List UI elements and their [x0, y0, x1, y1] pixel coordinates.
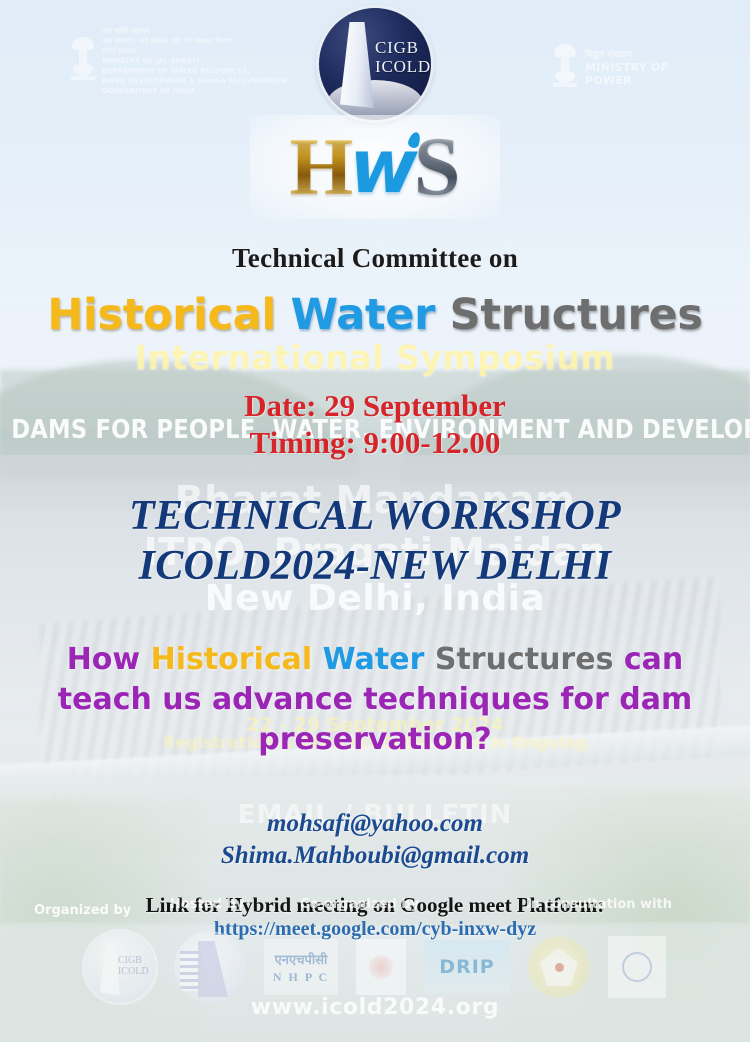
title-water: Water — [291, 290, 435, 340]
footer-hosted-by: Hosted by — [170, 897, 244, 912]
jal-shakti-line-6: RIVER DEVELOPMENT & GANGA REJUVENATION — [102, 77, 287, 85]
workshop-line-1: TECHNICAL WORKSHOP — [0, 491, 750, 541]
poster-root: International Symposium DAMS FOR PEOPLE,… — [0, 0, 750, 1042]
schedule-date: Date: 29 September — [0, 387, 750, 424]
ministry-of-power-text: विद्युत मंत्रालय MINISTRY OF POWER — [585, 50, 669, 87]
ministry-of-power-emblem: विद्युत मंत्रालय MINISTRY OF POWER — [552, 38, 692, 98]
title-structures: Structures — [450, 290, 703, 340]
footer-co-organized: Co-organized by — [300, 897, 419, 912]
ashoka-emblem-icon — [70, 35, 96, 87]
jal-shakti-line-2: जल संसाधन, नदी विकास और गंगा संरक्षण विभ… — [102, 37, 287, 45]
nhpc-logo-icon: एनएचपीसी N H P C — [264, 939, 338, 995]
footer-logo-strip: CIGB ICOLD एनएचपीसी N H P C DRIP — [0, 930, 750, 1004]
footer-organized-by: Organized by — [34, 903, 131, 918]
white-square-logo-icon — [356, 939, 406, 995]
contact-email-1[interactable]: mohsafi@yahoo.com — [0, 808, 750, 840]
mop-line-2: POWER — [585, 74, 669, 87]
contact-emails: mohsafi@yahoo.com Shima.Mahboubi@gmail.c… — [0, 808, 750, 872]
committee-label: Technical Committee on — [0, 243, 750, 274]
nhpc-abbr: N H P C — [273, 970, 329, 985]
icold-logo-line-1: CIGB — [375, 38, 431, 57]
watermark-symposium: International Symposium — [0, 338, 750, 377]
workshop-question: How Historical Water Structures can teac… — [0, 640, 750, 760]
nhpc-hindi: एनएचपीसी — [275, 950, 328, 968]
icold-footer-logo-text: CIGB ICOLD — [118, 955, 156, 977]
jal-shakti-line-1: जल शक्ति मंत्रालय — [102, 27, 287, 35]
jal-shakti-text: जल शक्ति मंत्रालय जल संसाधन, नदी विकास औ… — [102, 27, 287, 95]
schedule-timing: Timing: 9:00-12.00 — [0, 424, 750, 461]
jal-shakti-line-7: GOVERNMENT OF INDIA — [102, 87, 287, 95]
icold-footer-logo-icon: CIGB ICOLD — [84, 931, 156, 1003]
jal-shakti-line-3: भारत सरकार — [102, 47, 287, 55]
gold-emblem-logo-icon — [528, 936, 590, 998]
question-water: Water — [323, 642, 425, 677]
schedule-block: Date: 29 September Timing: 9:00-12.00 — [0, 387, 750, 461]
ashoka-emblem-icon — [552, 42, 578, 94]
question-historical: Historical — [151, 642, 313, 677]
question-structures: Structures — [435, 642, 614, 677]
workshop-line-2: ICOLD2024-NEW DELHI — [0, 541, 750, 591]
hws-letter-h: H — [290, 126, 354, 208]
hws-letter-s: S — [414, 125, 461, 209]
mop-line-1: MINISTRY OF — [585, 61, 669, 74]
jal-shakti-line-5: DEPARTMENT OF WATER RESOURCES, — [102, 67, 287, 75]
partner-square-logo-icon — [608, 936, 666, 998]
question-lead: How — [67, 642, 140, 677]
title-historical: Historical — [47, 290, 276, 340]
hws-letter-w: w — [349, 130, 417, 204]
hws-logo: H w S — [245, 112, 505, 222]
drip-logo-text: DRIP — [439, 956, 494, 978]
contact-email-2[interactable]: Shima.Mahboubi@gmail.com — [0, 840, 750, 872]
icold-logo-line-2: ICOLD — [375, 57, 431, 76]
page-title: Historical Water Structures — [0, 290, 750, 340]
mop-hindi: विद्युत मंत्रालय — [585, 50, 669, 61]
host-dam-logo-icon — [174, 931, 246, 1003]
footer-in-consultation: In consultation with — [526, 897, 672, 912]
icold-dam-logo-icon: CIGB ICOLD — [319, 8, 431, 120]
jal-shakti-emblem: जल शक्ति मंत्रालय जल संसाधन, नदी विकास औ… — [70, 30, 245, 92]
jal-shakti-line-4: MINISTRY OF JAL SHAKTI — [102, 57, 287, 65]
workshop-title: TECHNICAL WORKSHOP ICOLD2024-NEW DELHI — [0, 491, 750, 591]
drip-logo-icon: DRIP — [424, 940, 510, 994]
